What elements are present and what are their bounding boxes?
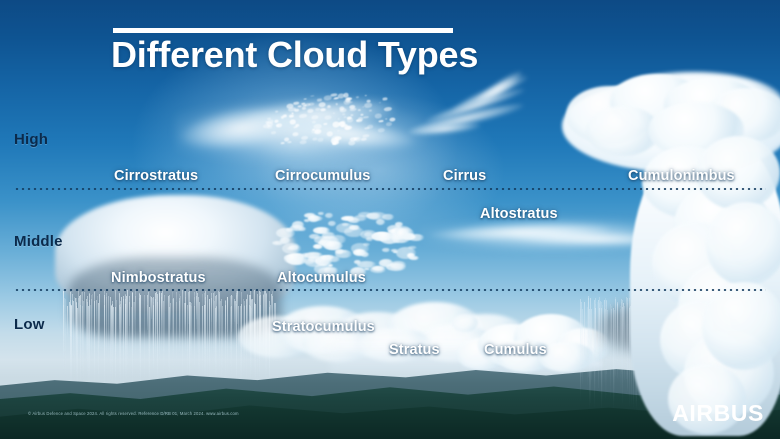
lightning-icon: [612, 330, 762, 406]
cloud-label-nimbostratus: Nimbostratus: [111, 270, 206, 286]
cloud-label-cirrus: Cirrus: [443, 168, 486, 184]
cloud-label-cumulonimbus: Cumulonimbus: [628, 168, 735, 184]
copyright-notice: © Airbus Defence and Space 2024. All rig…: [28, 411, 239, 416]
airbus-logo: AIRBUS: [672, 400, 764, 427]
cloud-types-infographic: Different Cloud Types High Middle Low Ci…: [0, 0, 780, 439]
page-title: Different Cloud Types: [111, 34, 478, 76]
cloud-label-cumulus: Cumulus: [484, 342, 547, 358]
altitude-label-middle: Middle: [14, 233, 63, 250]
cloud-label-stratus: Stratus: [389, 342, 440, 358]
cloud-label-cirrocumulus: Cirrocumulus: [275, 168, 370, 184]
altitude-label-high: High: [14, 131, 48, 148]
cirrus-cloud-graphic: [405, 82, 535, 144]
cloud-label-altocumulus: Altocumulus: [277, 270, 366, 286]
title-rule: [113, 28, 453, 33]
cirrocumulus-cloud-graphic: [259, 83, 406, 160]
cloud-label-altostratus: Altostratus: [480, 206, 558, 222]
altitude-label-low: Low: [14, 316, 45, 333]
divider-middle-low: [14, 289, 766, 291]
cirrostratus-cloud-graphic: [175, 95, 425, 167]
cloud-label-stratocumulus: Stratocumulus: [272, 319, 375, 335]
cloud-label-cirrostratus: Cirrostratus: [114, 168, 198, 184]
divider-high-middle: [14, 188, 766, 190]
